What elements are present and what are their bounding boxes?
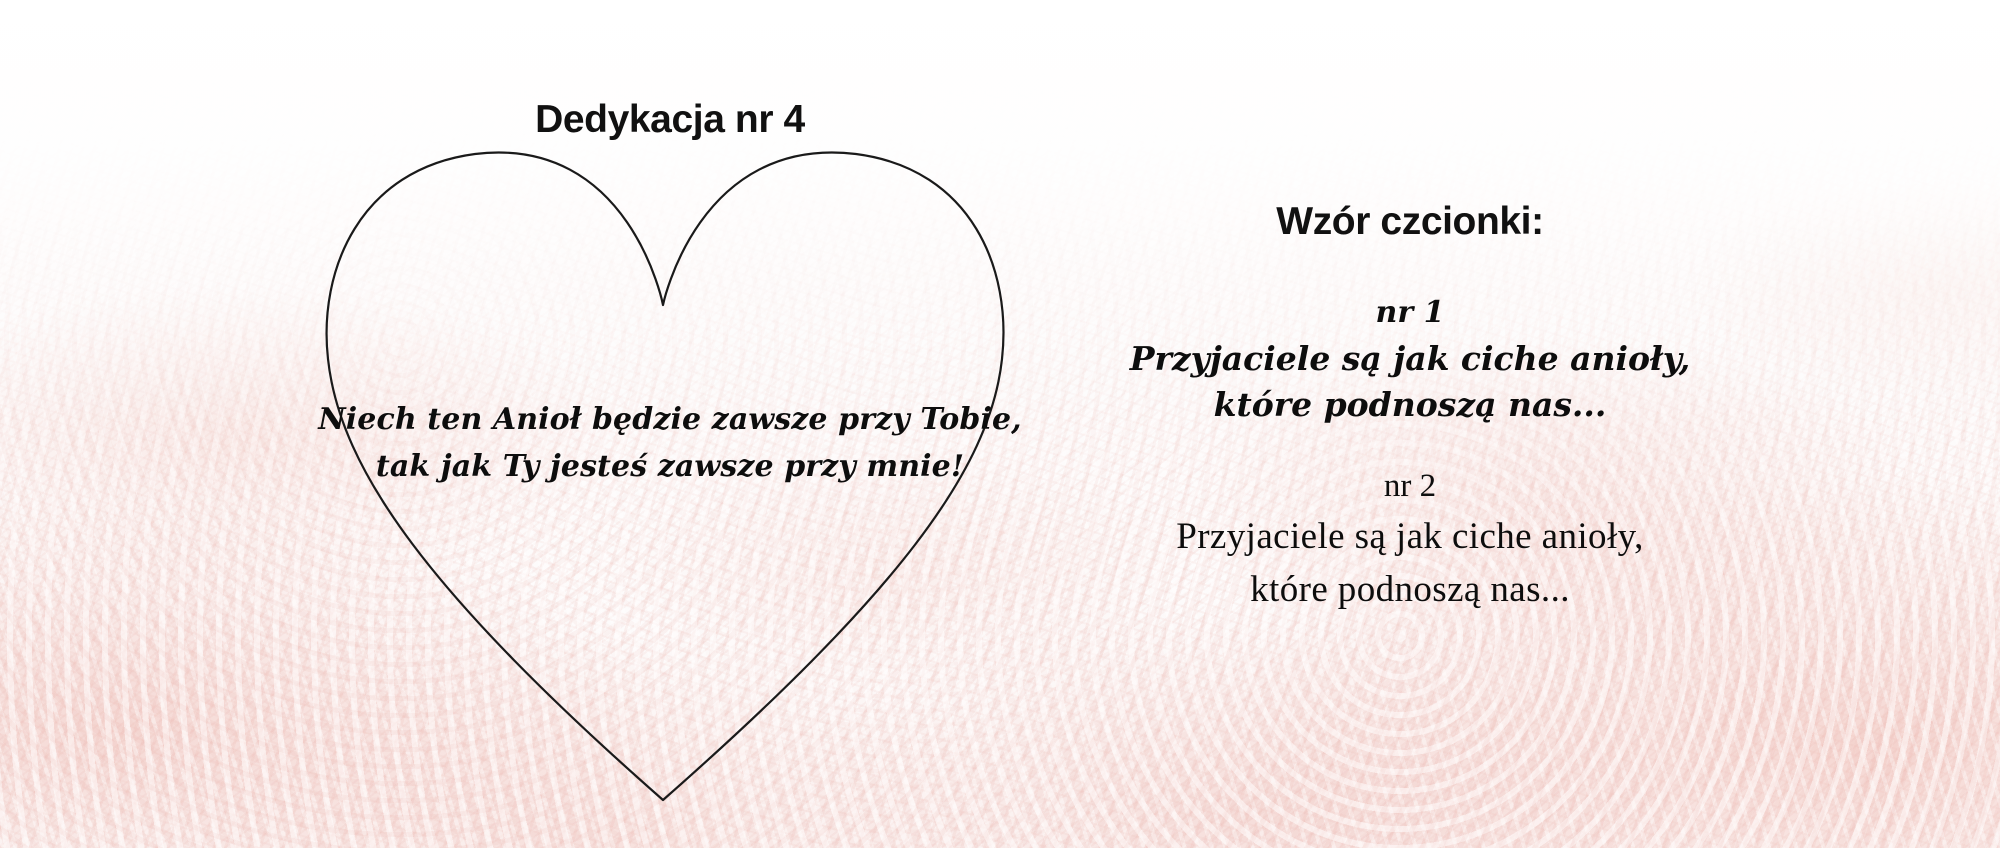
heart-dedication-text: Niech ten Anioł będzie zawsze przy Tobie…: [300, 396, 1040, 490]
heart-text-line-2: tak jak Ty jesteś zawsze przy mnie!: [300, 443, 1040, 490]
font-sample-1-label: nr 1: [1090, 290, 1730, 336]
page-title: Dedykacja nr 4: [0, 98, 1340, 142]
font-sample-2: nr 2 Przyjaciele są jak ciche anioły, kt…: [1090, 462, 1730, 616]
heart-text-line-1: Niech ten Anioł będzie zawsze przy Tobie…: [300, 396, 1040, 443]
font-panel-title: Wzór czcionki:: [1090, 200, 1730, 244]
font-sample-2-line-2: które podnoszą nas...: [1090, 563, 1730, 616]
font-sample-2-line-1: Przyjaciele są jak ciche anioły,: [1090, 510, 1730, 563]
font-sample-1-text: Przyjaciele są jak ciche anioły, które p…: [1090, 336, 1730, 428]
page-content: Dedykacja nr 4 Niech ten Anioł będzie za…: [0, 0, 2000, 848]
font-sample-1: nr 1 Przyjaciele są jak ciche anioły, kt…: [1090, 290, 1730, 428]
font-sample-2-label: nr 2: [1090, 462, 1730, 510]
font-sample-2-text: Przyjaciele są jak ciche anioły, które p…: [1090, 510, 1730, 616]
font-sample-panel: Wzór czcionki: nr 1 Przyjaciele są jak c…: [1090, 200, 1730, 626]
font-sample-1-line-2: które podnoszą nas...: [1090, 382, 1730, 428]
dedication-preview-page: Dedykacja nr 4 Niech ten Anioł będzie za…: [0, 0, 2000, 848]
font-sample-1-line-1: Przyjaciele są jak ciche anioły,: [1090, 336, 1730, 382]
